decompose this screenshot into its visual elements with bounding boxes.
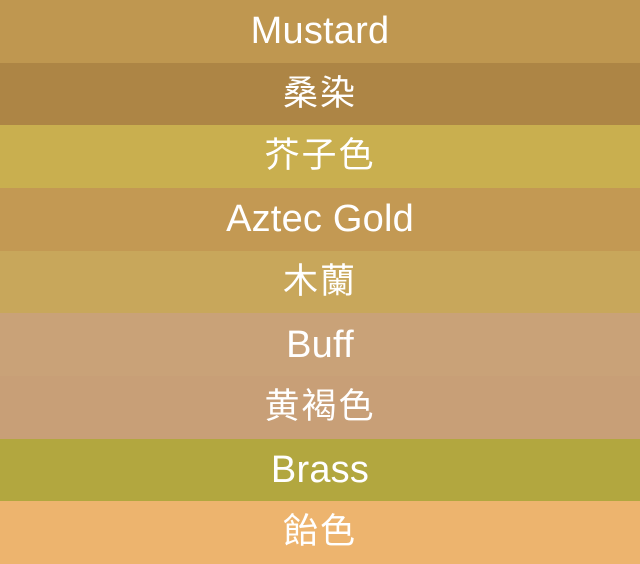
color-swatch-label: 黄褐色 — [264, 390, 375, 425]
color-palette-list: Mustard桑染芥子色Aztec Gold木蘭Buff黄褐色Brass飴色 — [0, 0, 640, 564]
color-swatch[interactable]: 芥子色 — [0, 125, 640, 188]
color-swatch[interactable]: 黄褐色 — [0, 376, 640, 439]
color-swatch-label: Brass — [271, 451, 369, 489]
color-swatch-label: Mustard — [251, 12, 390, 50]
color-swatch-label: 飴色 — [283, 515, 357, 550]
color-swatch[interactable]: Brass — [0, 439, 640, 502]
color-swatch[interactable]: Buff — [0, 313, 640, 376]
color-swatch-label: Aztec Gold — [226, 200, 414, 238]
color-swatch-label: Buff — [286, 326, 354, 364]
color-swatch-label: 芥子色 — [264, 139, 375, 174]
color-swatch[interactable]: Mustard — [0, 0, 640, 63]
color-swatch-label: 木蘭 — [283, 265, 357, 300]
color-swatch[interactable]: 飴色 — [0, 501, 640, 564]
color-swatch[interactable]: 木蘭 — [0, 251, 640, 314]
color-swatch-label: 桑染 — [283, 77, 357, 112]
color-swatch[interactable]: Aztec Gold — [0, 188, 640, 251]
color-swatch[interactable]: 桑染 — [0, 63, 640, 126]
